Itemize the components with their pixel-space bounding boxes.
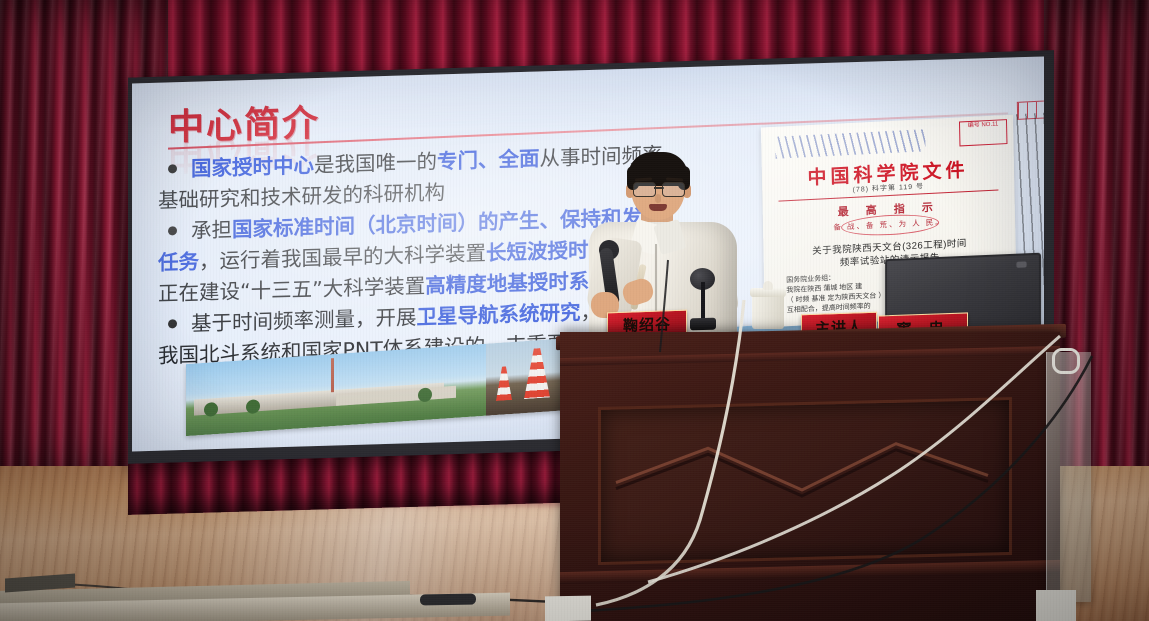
acrylic-side-panel xyxy=(1046,352,1091,602)
document-handwriting xyxy=(775,129,925,159)
speaker-mouth xyxy=(649,204,667,211)
slide-text-highlight: 专门、全面 xyxy=(437,146,540,173)
slide-text-plain: 承担 xyxy=(191,218,232,243)
document-stamp: 编号 NO.11 xyxy=(959,119,1008,146)
tree-icon xyxy=(418,387,432,402)
podium-diamond-relief xyxy=(612,433,992,514)
bullet-dot-icon xyxy=(168,319,177,328)
bullet-dot-icon xyxy=(168,164,177,173)
slide-text-plain: ，运行着我国最早的大科学装置 xyxy=(199,241,486,274)
slide-text-plain: 基于时间频率测量，开展 xyxy=(191,305,417,336)
speaker-nose xyxy=(655,194,661,203)
floor-white-box xyxy=(545,596,591,621)
antenna-tower xyxy=(496,366,512,401)
campus-mast xyxy=(331,358,334,392)
gooseneck-microphone-stem xyxy=(701,282,705,322)
tea-cup xyxy=(752,295,784,329)
lecture-hall-photo: 中心简介 中心简介 国家授时中心是我国唯一的专门、全面从事时间频率基础研究和技术… xyxy=(0,0,1149,621)
slide-text-plain: 是我国唯一的 xyxy=(314,149,437,177)
slide-text-plain: 正在建设“十三五”大科学装置 xyxy=(158,274,425,306)
glasses-lens-left xyxy=(633,182,656,197)
glasses-lens-right xyxy=(662,182,685,197)
tree-icon xyxy=(204,402,218,417)
antenna-tower xyxy=(524,347,550,399)
gooseneck-microphone-base xyxy=(690,318,716,331)
laptop-camera-icon xyxy=(1016,261,1026,267)
tree-icon xyxy=(246,399,260,414)
cable-clip-icon xyxy=(1052,348,1080,374)
slide-text-highlight: 国家授时中心 xyxy=(191,153,314,181)
floor-white-box-right xyxy=(1036,590,1076,621)
slide-text-highlight: 任务 xyxy=(158,250,199,275)
cable-connector xyxy=(420,594,476,606)
bullet-dot-icon xyxy=(168,226,177,235)
tea-cup-knob xyxy=(763,281,773,290)
slide-text-plain: 基础研究和技术研发的科研机构 xyxy=(158,180,445,213)
slide-text-highlight: 卫星导航系统研究 xyxy=(417,300,581,329)
